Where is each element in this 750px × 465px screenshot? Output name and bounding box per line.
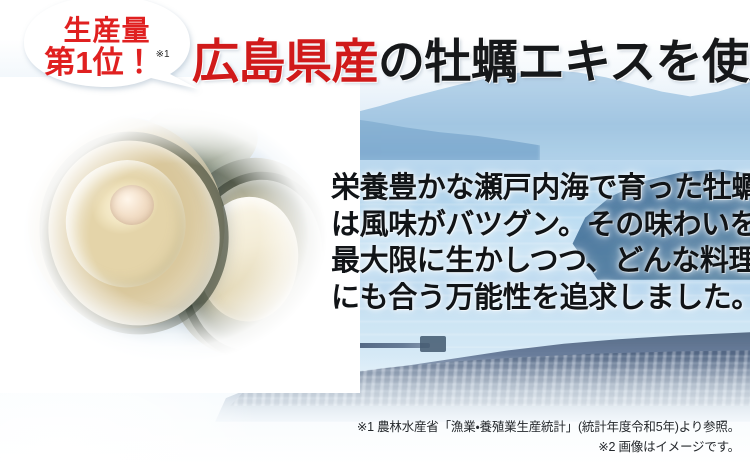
body-line: 最大限に生かしつつ、どんな料理 (331, 243, 735, 280)
badge-line-1: 生産量 (63, 16, 150, 45)
badge-line-2: 第1位！ (44, 47, 154, 80)
body-line: は風味がバツグン。その味わいを (331, 207, 735, 244)
body-line: 栄養豊かな瀬戸内海で育った牡蠣 (331, 170, 735, 207)
rank-badge: 生産量 第1位！ ※1 (12, 0, 202, 96)
rank-badge-text: 生産量 第1位！ ※1 (12, 0, 202, 96)
body-line: にも合う万能性を追求しました。 (331, 280, 735, 317)
page-title: 広島県産の牡蠣エキスを使用 (192, 27, 744, 87)
promo-banner: 生産量 第1位！ ※1 広島県産の牡蠣エキスを使用 栄養豊かな瀬戸内海で育った牡… (0, 0, 750, 465)
headline-highlight: 広島県産 (192, 23, 378, 92)
headline-rest: の牡蠣エキスを使用 (378, 23, 750, 92)
footnotes: ※1 農林水産省「漁業・養殖業生産統計」(統計年度令和5年)より参照。 ※2 画… (357, 418, 740, 457)
oyster-left-adductor (110, 185, 154, 225)
oyster-photo (10, 95, 340, 375)
body-copy: 栄養豊かな瀬戸内海で育った牡蠣 は風味がバツグン。その味わいを 最大限に生かしつ… (331, 170, 735, 316)
footnote-1: ※1 農林水産省「漁業・養殖業生産統計」(統計年度令和5年)より参照。 (357, 418, 740, 437)
pier-icon (340, 343, 430, 348)
badge-footnote-marker: ※1 (156, 50, 170, 61)
footnote-2: ※2 画像はイメージです。 (357, 438, 740, 457)
badge-line-2-row: 第1位！ ※1 (44, 47, 169, 80)
pier-building-icon (420, 336, 446, 352)
